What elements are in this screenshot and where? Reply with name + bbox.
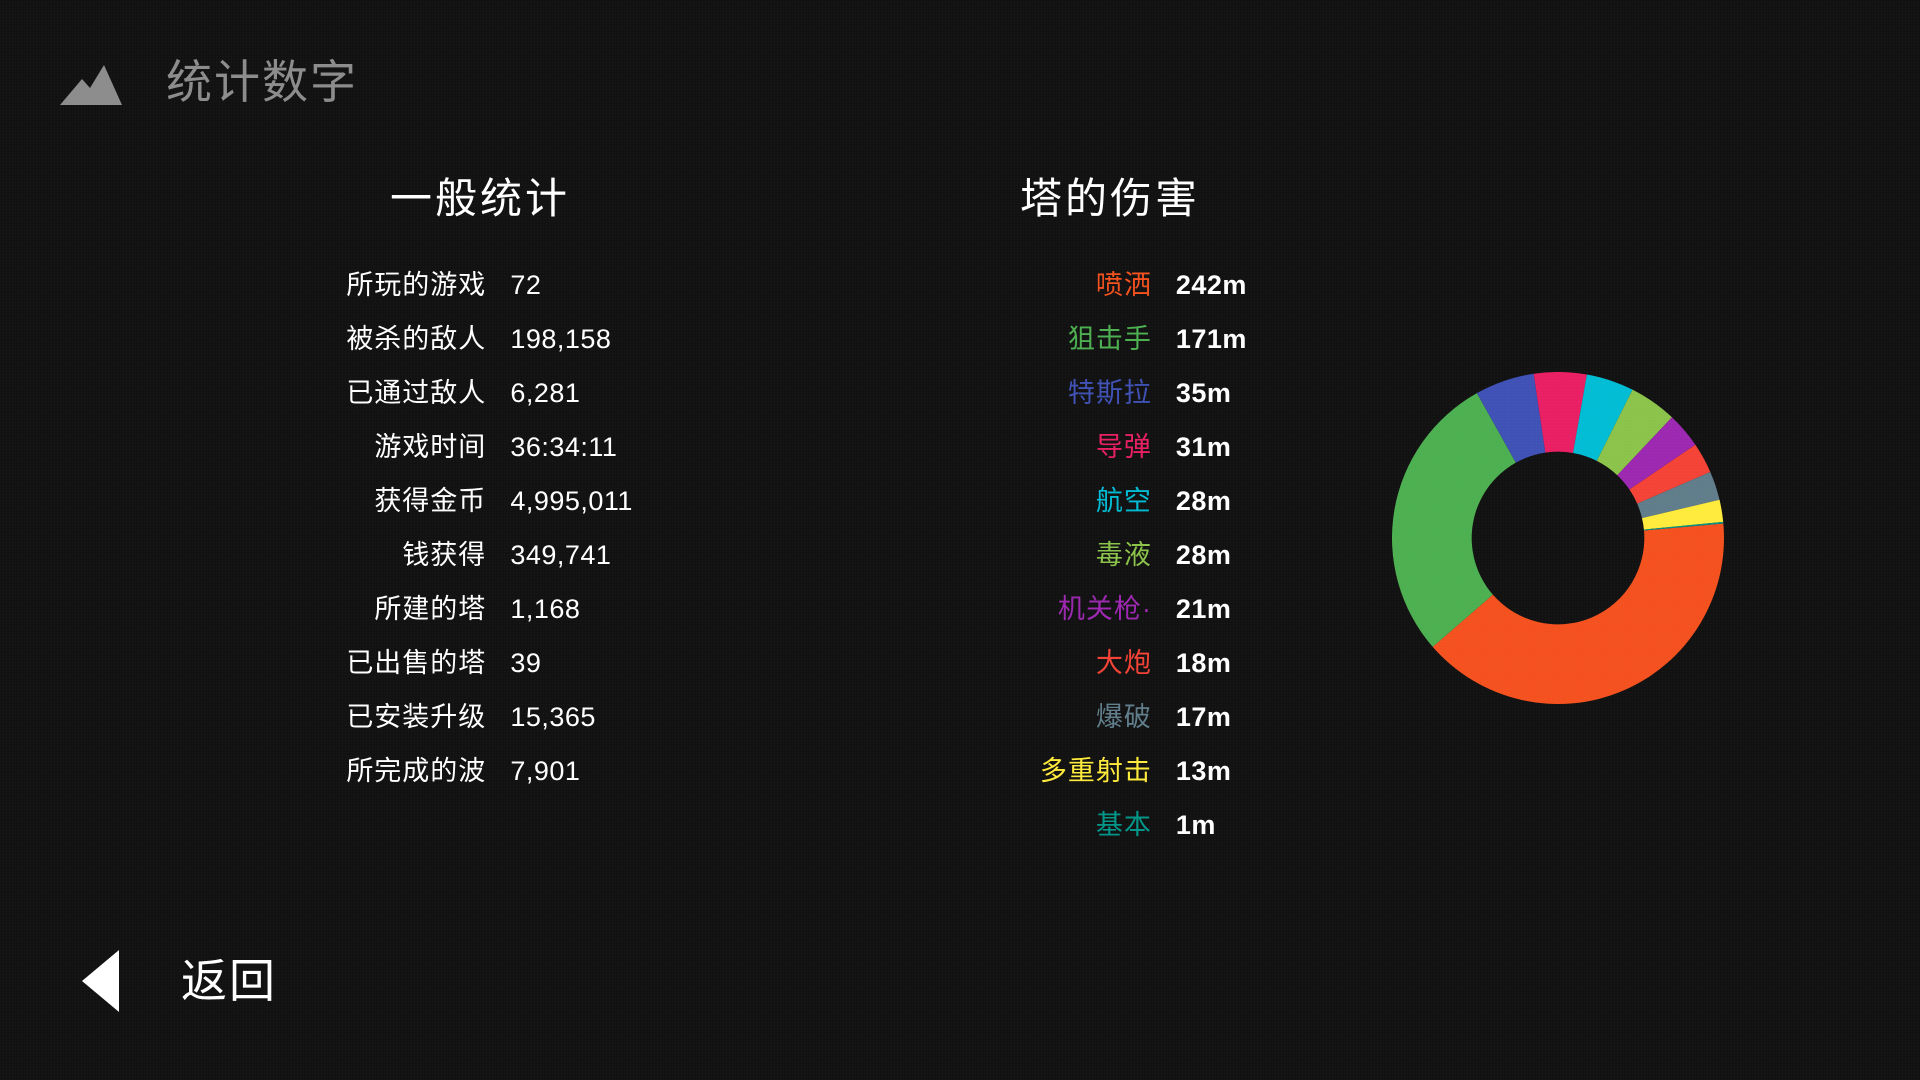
general-stat-row: 已安装升级15,365 <box>270 704 690 758</box>
tower-damage-value: 1m <box>1176 812 1320 866</box>
tower-damage-label: 基本 <box>900 812 1176 866</box>
tower-damage-label: 喷洒 <box>900 272 1176 326</box>
donut-slice-group <box>1392 372 1724 704</box>
tower-damage-value: 31m <box>1176 434 1320 488</box>
tower-damage-value: 17m <box>1176 704 1320 758</box>
general-stat-label: 所建的塔 <box>270 596 510 650</box>
general-stats-body: 所玩的游戏72被杀的敌人198,158已通过敌人6,281游戏时间36:34:1… <box>270 272 690 812</box>
back-button[interactable]: 返回 <box>60 938 277 1024</box>
tower-damage-label: 狙击手 <box>900 326 1176 380</box>
tower-damage-row: 导弹31m <box>900 434 1320 488</box>
tower-damage-row: 狙击手171m <box>900 326 1320 380</box>
back-button-label: 返回 <box>181 958 277 1004</box>
general-stat-label: 所玩的游戏 <box>270 272 510 326</box>
general-stat-row: 被杀的敌人198,158 <box>270 326 690 380</box>
page-header: 统计数字 <box>0 46 358 118</box>
general-stat-value: 349,741 <box>510 542 690 596</box>
donut-chart-svg <box>1392 372 1724 704</box>
tower-damage-value: 28m <box>1176 488 1320 542</box>
tower-damage-row: 机关枪·21m <box>900 596 1320 650</box>
general-stat-label: 获得金币 <box>270 488 510 542</box>
tower-damage-donut-chart <box>1392 372 1724 704</box>
general-stat-row: 所建的塔1,168 <box>270 596 690 650</box>
tower-damage-label: 爆破 <box>900 704 1176 758</box>
general-stat-label: 已出售的塔 <box>270 650 510 704</box>
tower-damage-value: 35m <box>1176 380 1320 434</box>
tower-damage-row: 爆破17m <box>900 704 1320 758</box>
general-stats-title: 一般统计 <box>270 178 690 220</box>
chart-mountain-icon <box>60 59 122 105</box>
tower-damage-title: 塔的伤害 <box>900 178 1320 220</box>
tower-damage-value: 21m <box>1176 596 1320 650</box>
tower-damage-label: 毒液 <box>900 542 1176 596</box>
tower-damage-label: 多重射击 <box>900 758 1176 812</box>
general-stat-label: 已通过敌人 <box>270 380 510 434</box>
donut-slice <box>1433 524 1724 704</box>
general-stat-label: 所完成的波 <box>270 758 510 812</box>
tower-damage-value: 28m <box>1176 542 1320 596</box>
general-stats-panel: 一般统计 所玩的游戏72被杀的敌人198,158已通过敌人6,281游戏时间36… <box>270 178 690 812</box>
general-stat-row: 获得金币4,995,011 <box>270 488 690 542</box>
tower-damage-value: 242m <box>1176 272 1320 326</box>
tower-damage-value: 18m <box>1176 650 1320 704</box>
general-stat-label: 已安装升级 <box>270 704 510 758</box>
tower-damage-row: 航空28m <box>900 488 1320 542</box>
tower-damage-body: 喷洒242m狙击手171m特斯拉35m导弹31m航空28m毒液28m机关枪·21… <box>900 272 1320 866</box>
tower-damage-value: 13m <box>1176 758 1320 812</box>
general-stat-row: 所完成的波7,901 <box>270 758 690 812</box>
triangle-left-icon <box>82 950 119 1012</box>
tower-damage-value: 171m <box>1176 326 1320 380</box>
general-stat-label: 被杀的敌人 <box>270 326 510 380</box>
general-stat-value: 15,365 <box>510 704 690 758</box>
tower-damage-label: 机关枪· <box>900 596 1176 650</box>
tower-damage-label: 大炮 <box>900 650 1176 704</box>
general-stat-row: 所玩的游戏72 <box>270 272 690 326</box>
general-stat-value: 198,158 <box>510 326 690 380</box>
general-stat-label: 游戏时间 <box>270 434 510 488</box>
general-stat-value: 36:34:11 <box>510 434 690 488</box>
general-stat-value: 1,168 <box>510 596 690 650</box>
tower-damage-label: 导弹 <box>900 434 1176 488</box>
general-stat-value: 4,995,011 <box>510 488 690 542</box>
tower-damage-panel: 塔的伤害 喷洒242m狙击手171m特斯拉35m导弹31m航空28m毒液28m机… <box>900 178 1320 866</box>
tower-damage-row: 基本1m <box>900 812 1320 866</box>
tower-damage-row: 特斯拉35m <box>900 380 1320 434</box>
general-stat-row: 游戏时间36:34:11 <box>270 434 690 488</box>
general-stat-value: 72 <box>510 272 690 326</box>
general-stat-row: 已出售的塔39 <box>270 650 690 704</box>
general-stat-value: 7,901 <box>510 758 690 812</box>
general-stat-value: 39 <box>510 650 690 704</box>
tower-damage-row: 大炮18m <box>900 650 1320 704</box>
general-stat-row: 已通过敌人6,281 <box>270 380 690 434</box>
tower-damage-row: 毒液28m <box>900 542 1320 596</box>
tower-damage-label: 航空 <box>900 488 1176 542</box>
general-stat-row: 钱获得349,741 <box>270 542 690 596</box>
tower-damage-table: 喷洒242m狙击手171m特斯拉35m导弹31m航空28m毒液28m机关枪·21… <box>900 272 1320 866</box>
tower-damage-row: 喷洒242m <box>900 272 1320 326</box>
general-stat-value: 6,281 <box>510 380 690 434</box>
general-stats-table: 所玩的游戏72被杀的敌人198,158已通过敌人6,281游戏时间36:34:1… <box>270 272 690 812</box>
general-stat-label: 钱获得 <box>270 542 510 596</box>
tower-damage-row: 多重射击13m <box>900 758 1320 812</box>
page-title: 统计数字 <box>166 59 358 105</box>
tower-damage-label: 特斯拉 <box>900 380 1176 434</box>
